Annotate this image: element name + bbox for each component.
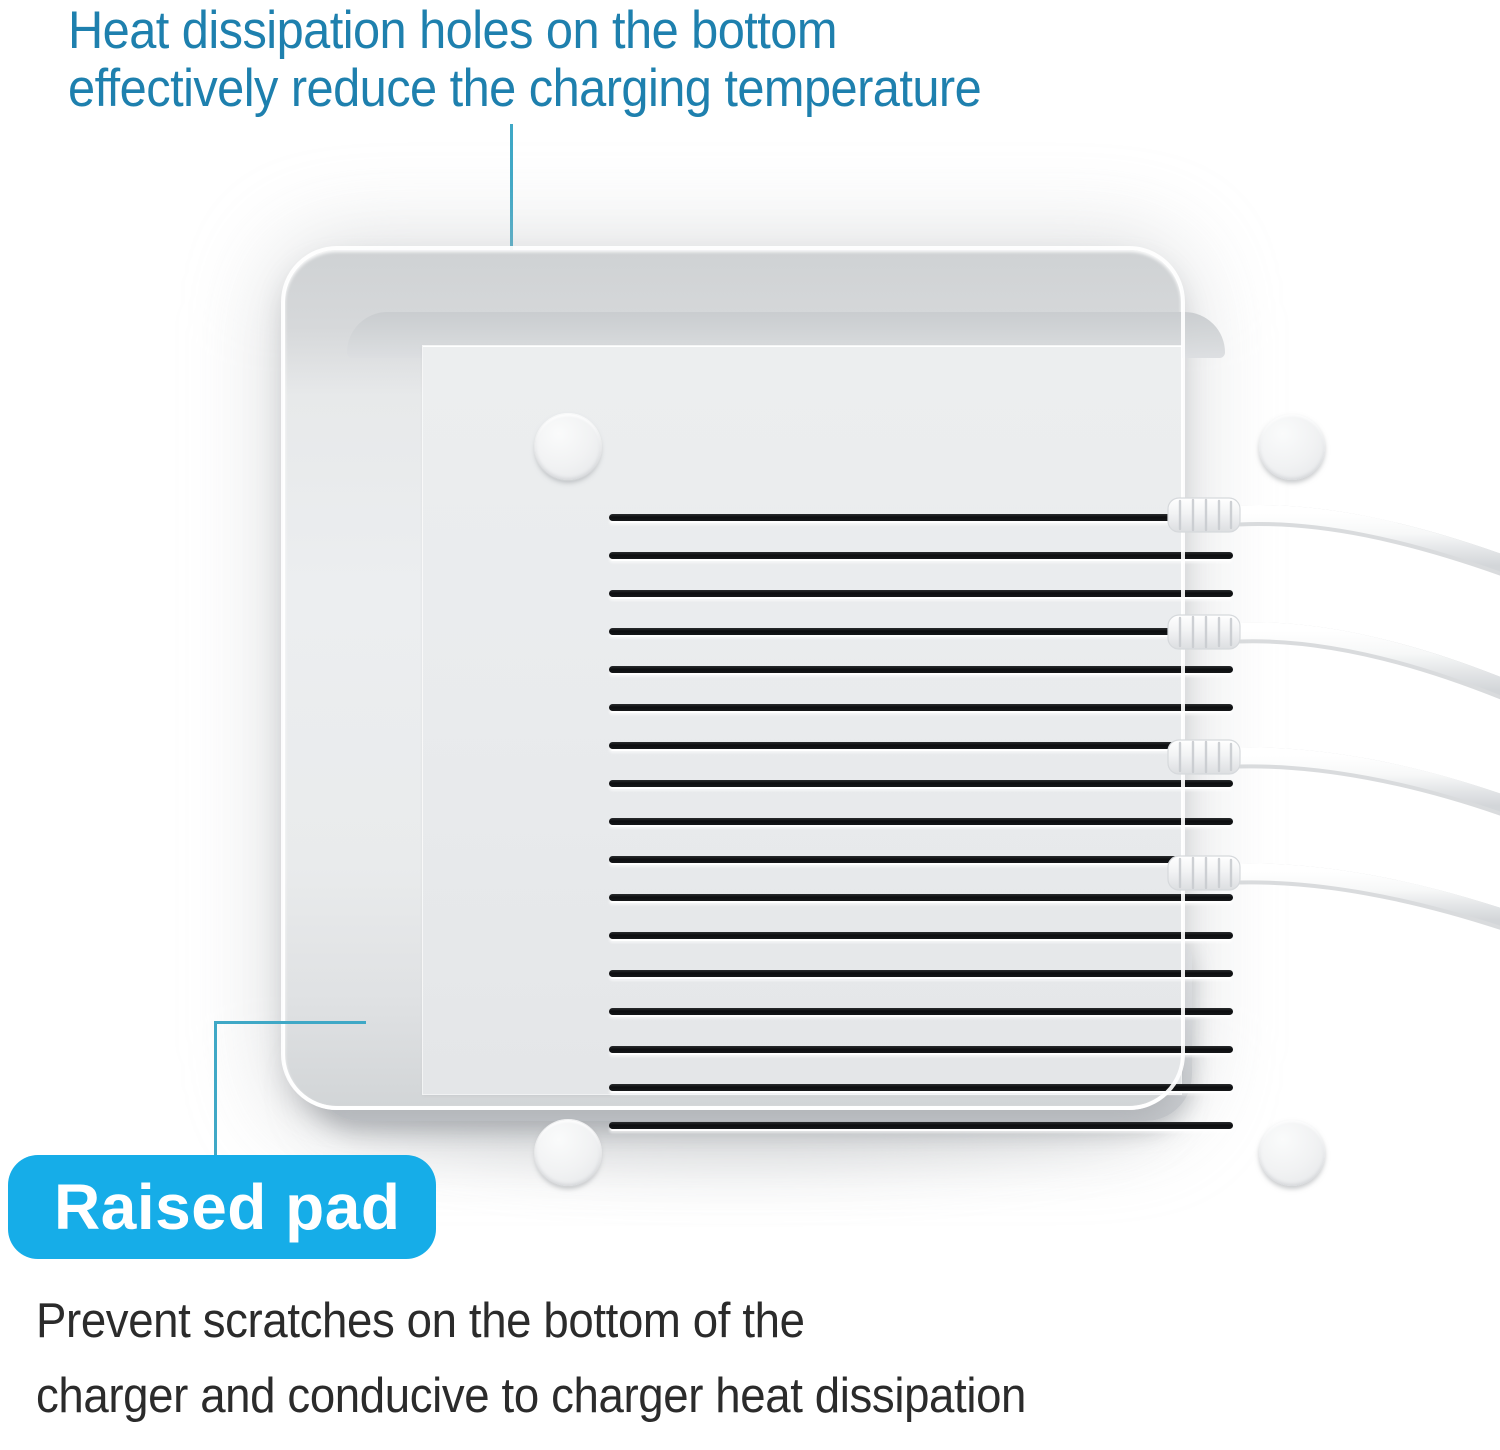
charger-bottom-panel (423, 346, 1181, 1094)
usb-cables-group (1120, 440, 1500, 940)
raised-pad-bottom-left (535, 1120, 601, 1186)
headline-line-1: Heat dissipation holes on the bottom (68, 1, 837, 60)
vent-slot (609, 1122, 1233, 1129)
callout-leader-line-pad-vertical (214, 1021, 217, 1166)
caption-text: Prevent scratches on the bottom of the c… (36, 1284, 1282, 1434)
callout-leader-line-pad-horizontal (214, 1021, 366, 1024)
raised-pad-bottom-right (1259, 1120, 1325, 1186)
raised-pad-badge: Raised pad (8, 1155, 436, 1259)
headline-text: Heat dissipation holes on the bottom eff… (68, 2, 1356, 118)
caption-line-1: Prevent scratches on the bottom of the (36, 1294, 805, 1348)
infographic-canvas: Heat dissipation holes on the bottom eff… (0, 0, 1500, 1450)
vent-slot (609, 970, 1233, 977)
vent-slot (609, 1008, 1233, 1015)
raised-pad-top-left (535, 414, 601, 480)
raised-pad-badge-label: Raised pad (54, 1175, 400, 1239)
usb-cables-svg (1120, 440, 1500, 940)
usb-cable-4 (1168, 856, 1500, 922)
headline-line-2: effectively reduce the charging temperat… (68, 60, 1356, 118)
usb-cable-1 (1168, 498, 1500, 568)
charger-product-image (232, 196, 1242, 1156)
usb-cable-3 (1168, 740, 1500, 808)
vent-slot (609, 1046, 1233, 1053)
caption-line-2: charger and conducive to charger heat di… (36, 1359, 1282, 1434)
vent-slot (609, 1084, 1233, 1091)
usb-cable-2 (1168, 615, 1500, 692)
charger-bottom-shell (285, 250, 1181, 1106)
